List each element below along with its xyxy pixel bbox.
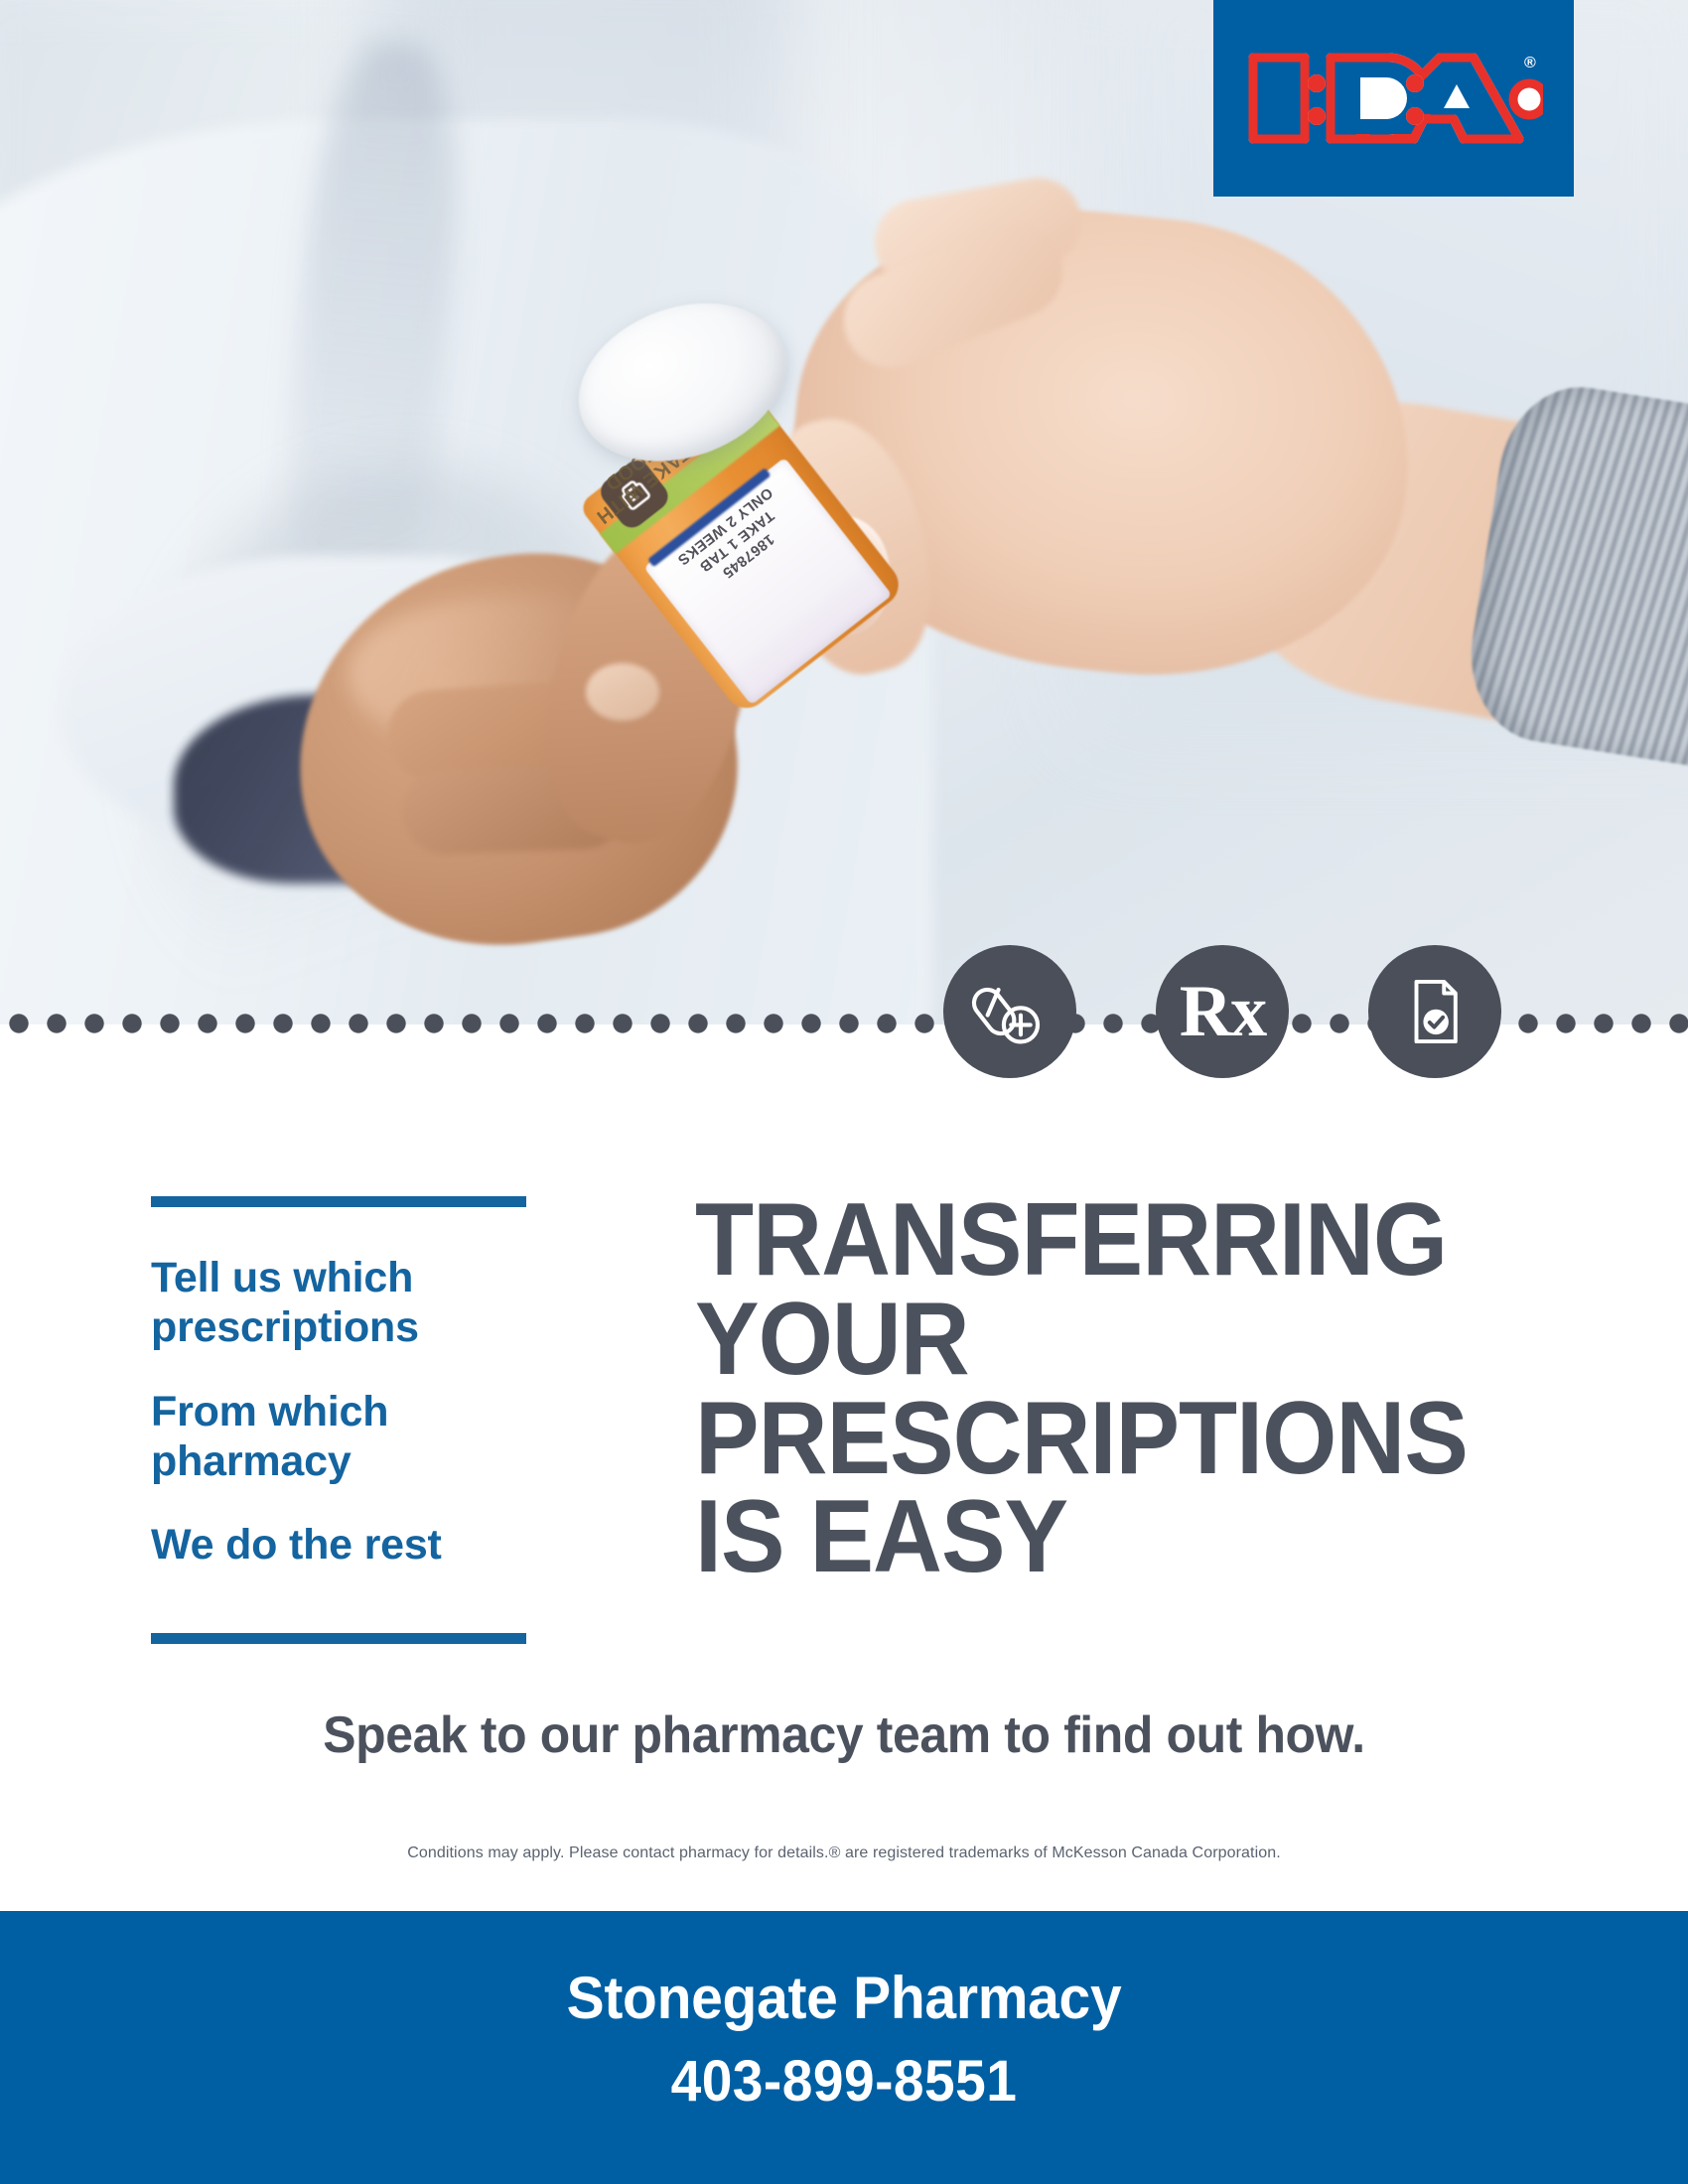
pills-plus-icon — [943, 945, 1076, 1078]
bullet-item-2: From which pharmacy — [151, 1387, 528, 1487]
pharmacy-phone[interactable]: 403-899-8551 — [43, 2032, 1646, 2115]
subhead: Speak to our pharmacy team to find out h… — [34, 1706, 1654, 1765]
pharmacist-fingernail — [586, 663, 659, 721]
bullets-column: Tell us which prescriptions From which p… — [151, 1196, 528, 1570]
footer-bar: Stonegate Pharmacy 403-899-8551 — [0, 1911, 1688, 2184]
svg-text:®: ® — [1524, 55, 1536, 71]
document-check-icon — [1368, 945, 1501, 1078]
headline-line-3: PRESCRIPTIONS — [695, 1390, 1489, 1489]
bullets-rule-top — [151, 1196, 526, 1207]
headline-line-2: YOUR — [695, 1291, 1489, 1390]
bullet-item-3: We do the rest — [151, 1520, 528, 1570]
ida-logo-mark: ® — [1245, 44, 1543, 153]
headline-line-4: IS EASY — [695, 1488, 1489, 1587]
bullet-item-1: Tell us which prescriptions — [151, 1253, 528, 1353]
bullets-rule-bottom — [151, 1633, 526, 1644]
pharmacy-name: Stonegate Pharmacy — [43, 1911, 1646, 2032]
headline-line-1: TRANSFERRING — [695, 1191, 1489, 1291]
page-title: TRANSFERRING YOUR PRESCRIPTIONS IS EASY — [695, 1191, 1489, 1587]
icon-row: Rx — [0, 945, 1688, 1104]
poster: TAKE WITH FOOD 1867845 TAKE 1 TAB ONLY 2… — [0, 0, 1688, 2184]
ida-logo: ® — [1213, 0, 1574, 197]
disclaimer-text: Conditions may apply. Please contact pha… — [0, 1844, 1688, 1862]
rx-icon: Rx — [1156, 945, 1289, 1078]
rx-glyph-text: Rx — [1180, 975, 1265, 1048]
